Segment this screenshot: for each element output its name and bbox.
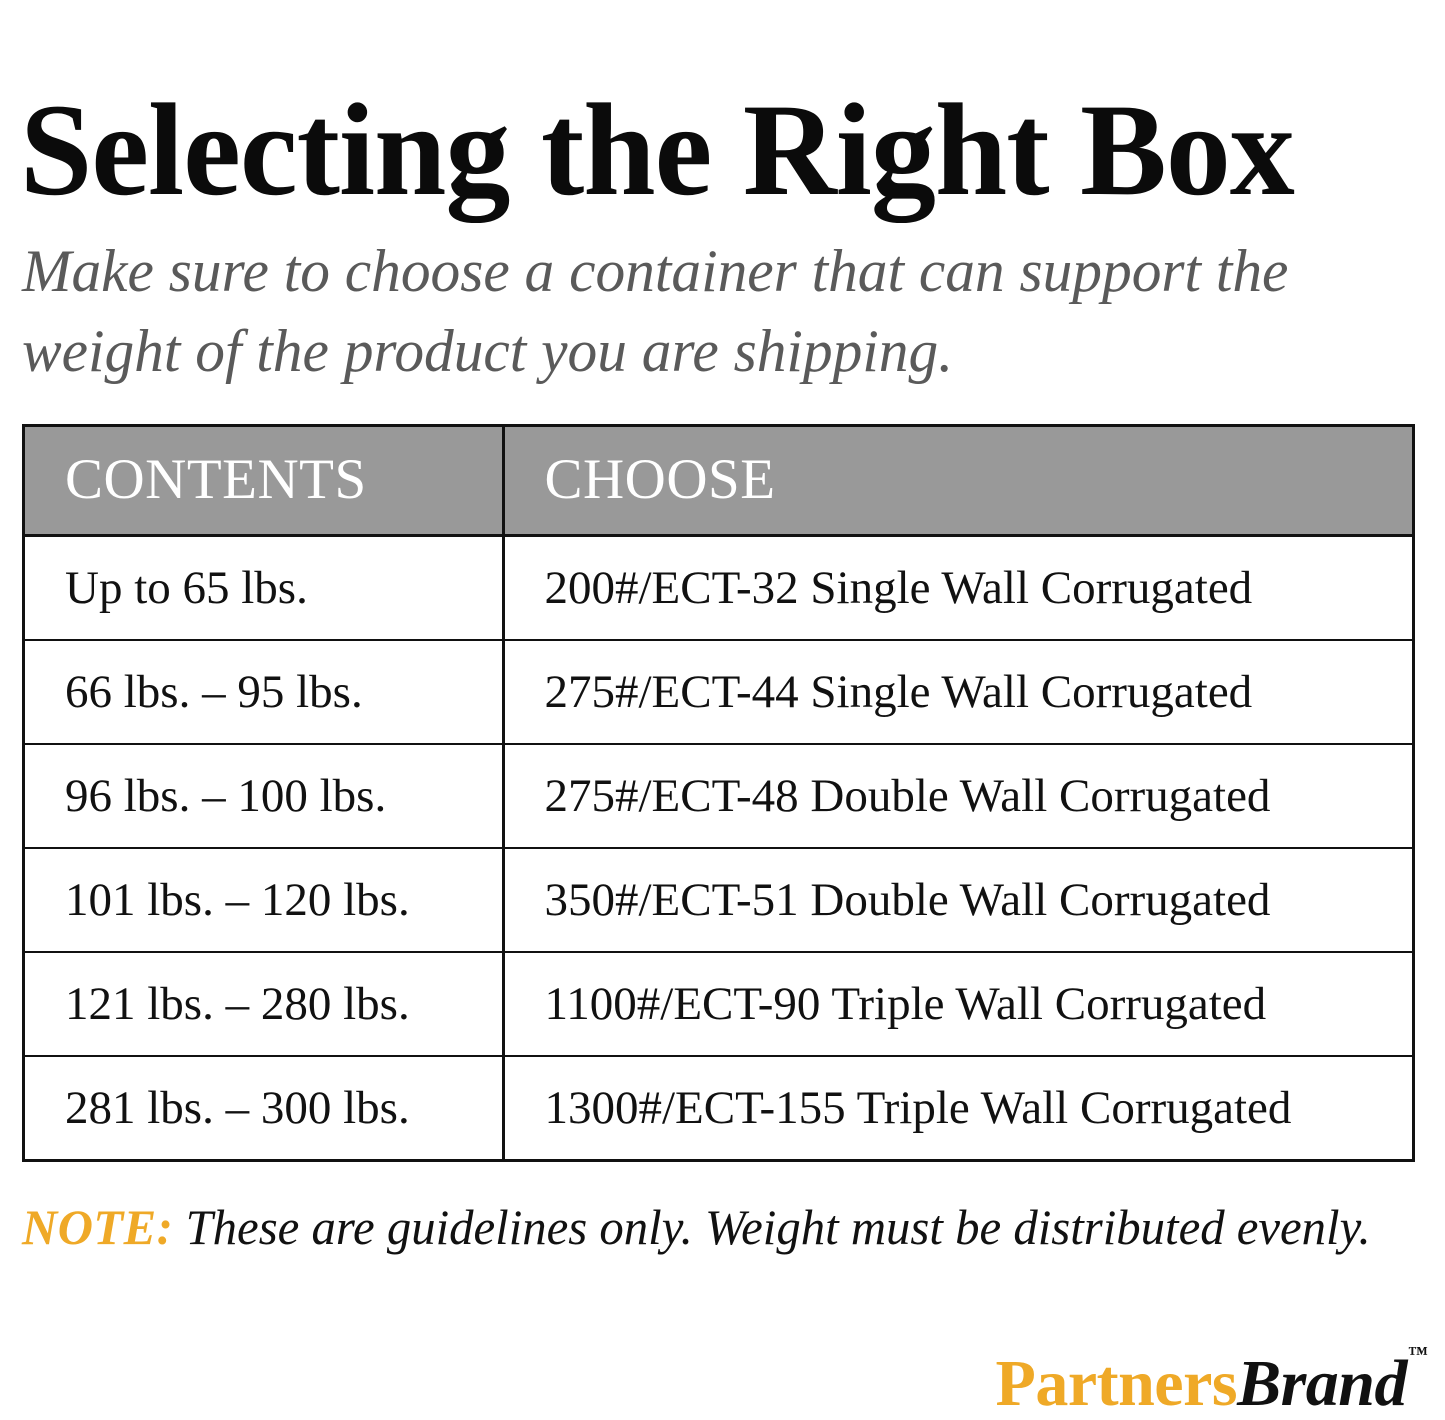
- partnersbrand-logo: PartnersBrand™: [996, 1351, 1428, 1417]
- note-line: NOTE: These are guidelines only. Weight …: [22, 1202, 1397, 1252]
- column-header-choose: CHOOSE: [503, 427, 1412, 536]
- column-header-contents: CONTENTS: [25, 427, 503, 536]
- trademark-icon: ™: [1408, 1343, 1428, 1365]
- table-row: 66 lbs. – 95 lbs. 275#/ECT-44 Single Wal…: [25, 640, 1412, 744]
- spec-table: CONTENTS CHOOSE Up to 65 lbs. 200#/ECT-3…: [25, 427, 1412, 1159]
- cell-choose: 350#/ECT-51 Double Wall Corrugated: [503, 848, 1412, 952]
- table-row: 281 lbs. – 300 lbs. 1300#/ECT-155 Triple…: [25, 1056, 1412, 1159]
- table-row: 101 lbs. – 120 lbs. 350#/ECT-51 Double W…: [25, 848, 1412, 952]
- cell-choose: 275#/ECT-44 Single Wall Corrugated: [503, 640, 1412, 744]
- table-body: Up to 65 lbs. 200#/ECT-32 Single Wall Co…: [25, 536, 1412, 1160]
- page-subtitle: Make sure to choose a container that can…: [22, 232, 1420, 392]
- cell-contents: 101 lbs. – 120 lbs.: [25, 848, 503, 952]
- cell-choose: 1100#/ECT-90 Triple Wall Corrugated: [503, 952, 1412, 1056]
- note-label: NOTE:: [22, 1199, 173, 1255]
- cell-choose: 1300#/ECT-155 Triple Wall Corrugated: [503, 1056, 1412, 1159]
- note-text: These are guidelines only. Weight must b…: [173, 1199, 1370, 1255]
- table-row: 96 lbs. – 100 lbs. 275#/ECT-48 Double Wa…: [25, 744, 1412, 848]
- logo-word-partners: Partners: [996, 1347, 1238, 1420]
- cell-contents: 121 lbs. – 280 lbs.: [25, 952, 503, 1056]
- cell-contents: 96 lbs. – 100 lbs.: [25, 744, 503, 848]
- page-root: Selecting the Right Box Make sure to cho…: [0, 0, 1445, 1419]
- page-title: Selecting the Right Box: [20, 80, 1409, 220]
- cell-choose: 200#/ECT-32 Single Wall Corrugated: [503, 536, 1412, 641]
- table-header-row: CONTENTS CHOOSE: [25, 427, 1412, 536]
- cell-contents: 281 lbs. – 300 lbs.: [25, 1056, 503, 1159]
- cell-contents: Up to 65 lbs.: [25, 536, 503, 641]
- cell-choose: 275#/ECT-48 Double Wall Corrugated: [503, 744, 1412, 848]
- cell-contents: 66 lbs. – 95 lbs.: [25, 640, 503, 744]
- logo-word-brand: Brand: [1237, 1347, 1407, 1420]
- box-selection-table: CONTENTS CHOOSE Up to 65 lbs. 200#/ECT-3…: [22, 424, 1415, 1162]
- table-row: Up to 65 lbs. 200#/ECT-32 Single Wall Co…: [25, 536, 1412, 641]
- table-header: CONTENTS CHOOSE: [25, 427, 1412, 536]
- table-row: 121 lbs. – 280 lbs. 1100#/ECT-90 Triple …: [25, 952, 1412, 1056]
